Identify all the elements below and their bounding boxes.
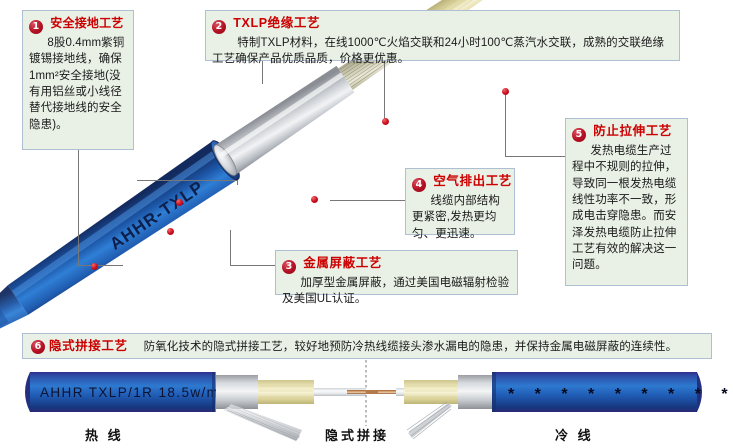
leader-insulation-horizontal: [137, 180, 237, 181]
leader-1-horizontal: [78, 265, 123, 266]
hotspot-dot-braid: [311, 196, 318, 203]
callout-2-body: 特制TXLP材料，在线1000℃火焰交联和24小时100℃蒸汽水交联，成熟的交联…: [212, 35, 673, 68]
leader-insulation-vertical: [237, 180, 238, 185]
callout-1-title: 安全接地工艺: [50, 16, 123, 30]
leader-3-horizontal: [230, 265, 278, 266]
callout-2-head: 2 TXLP绝缘工艺: [212, 16, 673, 34]
callout-1-body: 8股0.4mm紫铜镀锡接地线，确保1mm²安全接地(没有用铝丝或小线径替代接地线…: [29, 35, 127, 133]
label-cold-line: 冷 线: [555, 425, 594, 444]
callout-1-badge: 1: [29, 20, 43, 34]
hotspot-dot-insulation: [382, 118, 389, 125]
callout-4-body: 线缆内部结构更紧密,发热更均匀、更迅速。: [412, 193, 508, 242]
leader-1-vertical: [78, 150, 79, 265]
callout-box-2[interactable]: 2 TXLP绝缘工艺 特制TXLP材料，在线1000℃火焰交联和24小时100℃…: [205, 10, 680, 61]
label-splice: 隐式拼接: [325, 425, 389, 444]
callout-box-1[interactable]: 1 安全接地工艺 8股0.4mm紫铜镀锡接地线，确保1mm²安全接地(没有用铝丝…: [22, 10, 134, 150]
callout-6-row: 6 隐式拼接工艺 防氧化技术的隐式拼接工艺，较好地预防冷热线缆接头渗水漏电的隐患…: [31, 338, 703, 356]
leader-5-vertical: [505, 92, 506, 157]
callout-3-head: 3 金属屏蔽工艺: [282, 256, 511, 274]
callout-box-5[interactable]: 5 防止拉伸工艺 发热电缆生产过程中不规则的拉伸，导致同一根发热电缆线性功率不一…: [565, 118, 688, 286]
callout-5-body: 发热电缆生产过程中不规则的拉伸，导致同一根发热电缆线性功率不一致，形成电击穿隐患…: [572, 143, 681, 274]
callout-3-body: 加厚型金属屏蔽，通过美国电磁辐射检验及美国UL认证。: [282, 275, 511, 308]
callout-5-title: 防止拉伸工艺: [593, 124, 672, 138]
callout-4-title: 空气排出工艺: [433, 174, 512, 188]
callout-4-head: 4 空气排出工艺: [412, 174, 508, 192]
hotspot-dot-conductor: [502, 88, 509, 95]
hotspot-dot-jacket-cut: [176, 199, 183, 206]
leader-2b-vertical: [384, 61, 385, 121]
callout-1-head: 1 安全接地工艺: [29, 16, 127, 34]
callout-box-4[interactable]: 4 空气排出工艺 线缆内部结构更紧密,发热更均匀、更迅速。: [405, 168, 515, 235]
hotspot-dot-grounding: [91, 263, 98, 270]
callout-2-badge: 2: [212, 20, 226, 34]
callout-box-6[interactable]: 6 隐式拼接工艺 防氧化技术的隐式拼接工艺，较好地预防冷热线缆接头渗水漏电的隐患…: [22, 333, 712, 359]
callout-6-body: 防氧化技术的隐式拼接工艺，较好地预防冷热线缆接头渗水漏电的隐患，并保持金属电磁屏…: [144, 339, 678, 355]
callout-5-badge: 5: [572, 128, 586, 142]
hotspot-dot-shield: [167, 228, 174, 235]
callout-box-3[interactable]: 3 金属屏蔽工艺 加厚型金属屏蔽，通过美国电磁辐射检验及美国UL认证。: [275, 250, 518, 295]
label-hot-line: 热 线: [85, 425, 124, 444]
diagram-canvas: AHHR-TXLP 1 安全接地工艺 8股0.4mm紫铜镀锡接地线，确保1mm²…: [0, 0, 733, 448]
leader-3-vertical: [230, 230, 231, 266]
callout-6-title: 隐式拼接工艺: [49, 338, 128, 356]
cold-cable-print: * * * * * * * * * *: [508, 386, 733, 403]
leader-4-horizontal: [330, 200, 406, 201]
callout-5-head: 5 防止拉伸工艺: [572, 124, 681, 142]
leader-5-horizontal: [505, 156, 567, 157]
callout-4-badge: 4: [412, 178, 426, 192]
callout-3-title: 金属屏蔽工艺: [303, 256, 382, 270]
callout-3-badge: 3: [282, 260, 296, 274]
callout-6-badge: 6: [31, 340, 45, 354]
hot-cable-print: AHHR TXLP/1R 18.5w/m: [40, 385, 219, 400]
callout-2-title: TXLP绝缘工艺: [233, 16, 320, 30]
